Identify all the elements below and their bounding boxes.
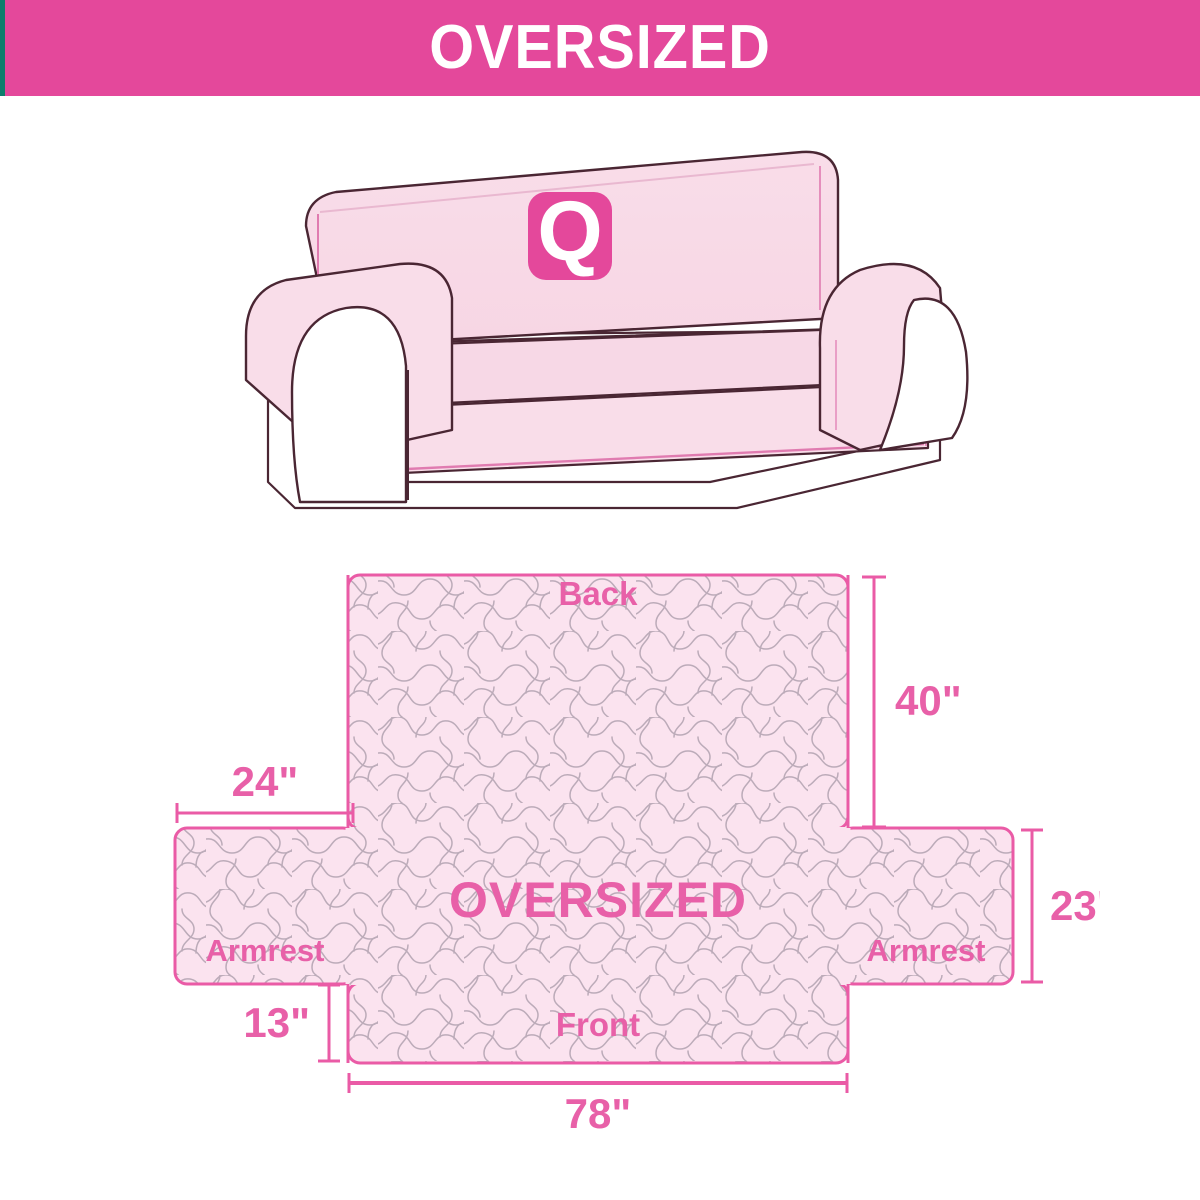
label-armrest-left: Armrest: [206, 933, 325, 968]
dim-value-24: 24": [232, 758, 299, 805]
label-center-oversized: OVERSIZED: [449, 872, 747, 928]
dimension-back-height: 40": [862, 577, 962, 827]
slipcover-flat-shape: [175, 575, 1013, 1063]
page-title: OVERSIZED: [42, 0, 1158, 96]
header-banner: OVERSIZED: [0, 0, 1200, 96]
dimension-front-height: 13": [243, 985, 340, 1061]
dimension-armrest-width: 24": [177, 758, 353, 823]
brand-logo-badge: Q: [528, 184, 612, 280]
label-armrest-right: Armrest: [867, 933, 986, 968]
dim-value-23: 23": [1050, 882, 1100, 929]
sofa-left-armrest-roll: [292, 307, 406, 502]
flat-layout-diagram: Back Front Armrest Armrest OVERSIZED 40"…: [120, 545, 1100, 1135]
logo-letter-q: Q: [537, 184, 602, 278]
panel-back: [348, 575, 848, 829]
dim-value-13: 13": [243, 999, 310, 1046]
dim-value-78: 78": [565, 1090, 632, 1135]
dimension-armrest-height: 23": [1021, 830, 1100, 982]
header-accent-stripe: [0, 0, 5, 96]
sofa-illustration: Q: [240, 130, 980, 510]
dim-value-40: 40": [895, 677, 962, 724]
label-front: Front: [556, 1006, 640, 1043]
label-back: Back: [559, 575, 639, 612]
dimension-total-width: 78": [349, 1073, 847, 1135]
size-chart-page: OVERSIZED: [0, 0, 1200, 1200]
